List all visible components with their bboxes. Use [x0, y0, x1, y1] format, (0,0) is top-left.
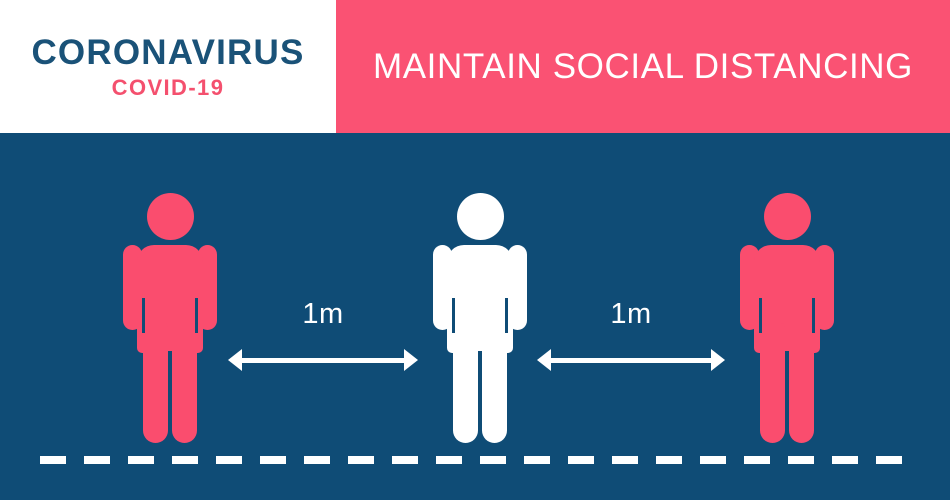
social-distancing-poster: CORONAVIRUS COVID-19 MAINTAIN SOCIAL DIS… — [0, 0, 950, 500]
logo-sub-text: COVID-19 — [112, 77, 225, 99]
person-leg-right — [789, 323, 814, 443]
arrow-head-right-icon — [711, 349, 725, 371]
person-arm-gap-left — [142, 298, 145, 333]
person-arm-gap-left — [759, 298, 762, 333]
person-head-icon — [457, 193, 504, 240]
distance-measure-left: 1m — [228, 300, 418, 370]
person-leg-right — [172, 323, 197, 443]
person-arm-gap-right — [812, 298, 815, 333]
person-leg-gap — [478, 351, 482, 443]
person-arm-gap-right — [505, 298, 508, 333]
arrow-head-right-icon — [404, 349, 418, 371]
person-figure-center — [425, 193, 535, 443]
person-leg-gap — [168, 351, 172, 443]
person-leg-right — [482, 323, 507, 443]
arrow-head-left-icon — [537, 349, 551, 371]
dashed-ground-line — [40, 456, 905, 464]
distance-label: 1m — [537, 300, 725, 329]
person-figure-left — [115, 193, 225, 443]
person-head-icon — [764, 193, 811, 240]
logo-main-text: CORONAVIRUS — [31, 35, 304, 70]
person-arm-gap-right — [195, 298, 198, 333]
person-arm-gap-left — [452, 298, 455, 333]
person-leg-left — [760, 323, 785, 443]
person-head-icon — [147, 193, 194, 240]
distance-label: 1m — [228, 300, 418, 329]
double-arrow-icon — [546, 358, 716, 363]
coronavirus-logo: CORONAVIRUS COVID-19 — [0, 0, 336, 133]
header-banner: MAINTAIN SOCIAL DISTANCING — [336, 0, 950, 133]
person-leg-left — [453, 323, 478, 443]
illustration-stage: 1m 1m — [0, 133, 950, 500]
arrow-head-left-icon — [228, 349, 242, 371]
person-leg-gap — [785, 351, 789, 443]
double-arrow-icon — [237, 358, 409, 363]
distance-measure-right: 1m — [537, 300, 725, 370]
poster-header: CORONAVIRUS COVID-19 MAINTAIN SOCIAL DIS… — [0, 0, 950, 133]
person-figure-right — [732, 193, 842, 443]
person-leg-left — [143, 323, 168, 443]
page-title: MAINTAIN SOCIAL DISTANCING — [373, 49, 913, 84]
